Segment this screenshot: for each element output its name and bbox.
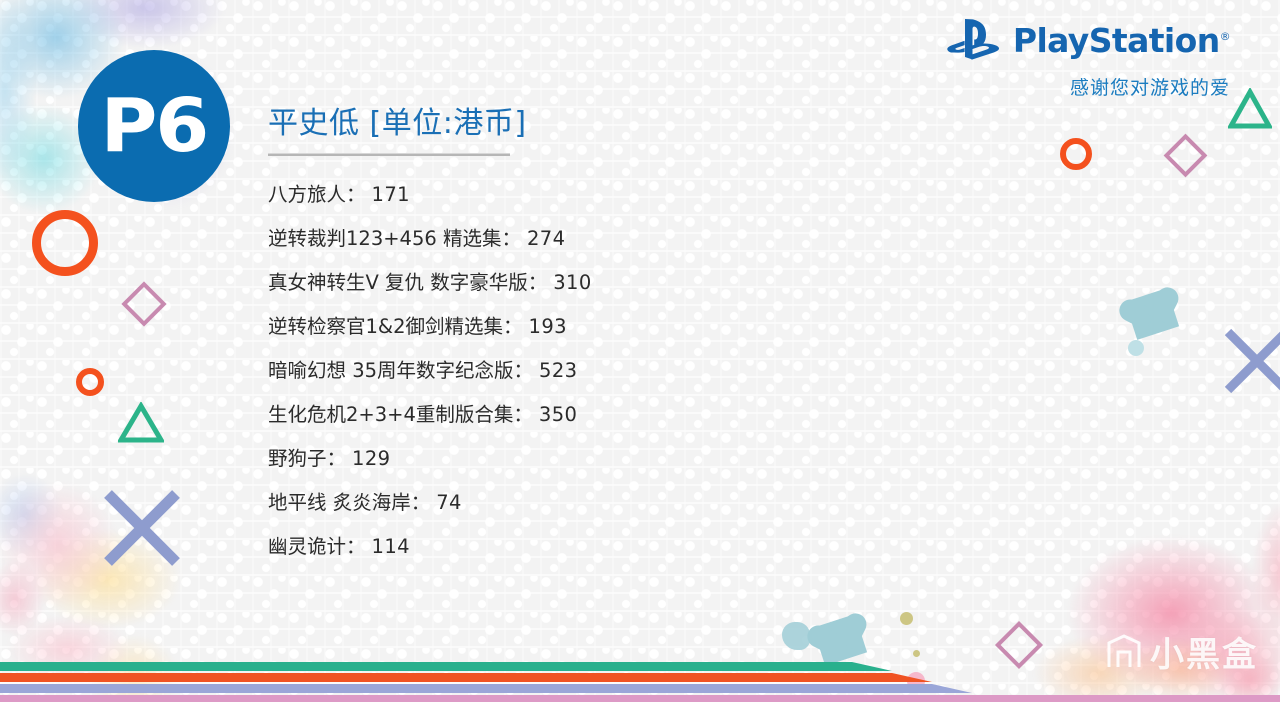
cross-icon (1218, 322, 1280, 400)
price-item-value: 193 (529, 315, 567, 338)
brand-tagline: 感谢您对游戏的爱 (945, 73, 1230, 100)
price-list-item: 生化危机2+3+4重制版合集：350 (268, 390, 888, 434)
title-divider (268, 153, 510, 156)
price-item-name: 地平线 炙炎海岸： (268, 491, 430, 514)
circle-icon (32, 210, 98, 276)
dot-icon (1128, 340, 1144, 356)
playstation-brand-block: PlayStation® 感谢您对游戏的爱 (945, 16, 1230, 100)
stripe-periwinkle (0, 684, 972, 693)
price-item-name: 野狗子： (268, 447, 346, 470)
price-list-item: 幽灵诡计：114 (268, 522, 888, 566)
price-list-item: 暗喻幻想 35周年数字纪念版：523 (268, 346, 888, 390)
price-item-value: 129 (352, 447, 390, 470)
stripe-pink (0, 695, 1280, 702)
dot-icon (900, 612, 913, 625)
price-list-item: 地平线 炙炎海岸：74 (268, 478, 888, 522)
circle-icon (76, 368, 104, 396)
circle-icon (1060, 138, 1092, 170)
dot-icon (782, 622, 810, 650)
price-item-name: 八方旅人： (268, 183, 366, 206)
playstation-wordmark: PlayStation® (1013, 21, 1230, 60)
price-item-name: 暗喻幻想 35周年数字纪念版： (268, 359, 533, 382)
registered-trademark-icon: ® (1220, 30, 1230, 43)
price-list-item: 野狗子：129 (268, 434, 888, 478)
price-panel: 平史低 [单位:港币] 八方旅人：171逆转裁判123+456 精选集：274真… (268, 98, 888, 566)
stripe-group (0, 660, 1280, 702)
price-list: 八方旅人：171逆转裁判123+456 精选集：274真女神转生V 复仇 数字豪… (268, 170, 888, 566)
price-item-value: 171 (372, 183, 410, 206)
triangle-icon (1228, 88, 1272, 130)
price-item-value: 74 (436, 491, 462, 514)
price-list-item: 真女神转生V 复仇 数字豪华版：310 (268, 258, 888, 302)
price-item-value: 114 (372, 535, 410, 558)
price-list-item: 逆转检察官1&2御剑精选集：193 (268, 302, 888, 346)
cross-icon (96, 482, 188, 574)
stripe-orange (0, 673, 932, 682)
rank-badge: P6 (78, 50, 230, 202)
price-item-name: 幽灵诡计： (268, 535, 366, 558)
playstation-logo-icon (945, 16, 1001, 64)
bottom-stripe-bar (0, 660, 1280, 702)
price-item-name: 真女神转生V 复仇 数字豪华版： (268, 271, 547, 294)
rank-badge-label: P6 (101, 89, 208, 163)
page-title: 平史低 [单位:港币] (268, 98, 888, 142)
watermark-text: 小黑盒 (1150, 627, 1258, 676)
dot-icon (913, 650, 920, 657)
watermark-logo-icon (1105, 633, 1143, 671)
price-item-value: 310 (553, 271, 591, 294)
price-list-item: 八方旅人：171 (268, 170, 888, 214)
watermark: 小黑盒 (1105, 627, 1258, 676)
stripe-green (0, 662, 892, 671)
price-item-name: 逆转裁判123+456 精选集： (268, 227, 521, 250)
price-item-value: 350 (539, 403, 577, 426)
triangle-icon (118, 402, 164, 444)
playstation-wordmark-text: PlayStation (1013, 21, 1220, 60)
price-list-item: 逆转裁判123+456 精选集：274 (268, 214, 888, 258)
price-item-value: 523 (539, 359, 577, 382)
price-item-name: 生化危机2+3+4重制版合集： (268, 403, 533, 426)
price-item-value: 274 (527, 227, 565, 250)
price-item-name: 逆转检察官1&2御剑精选集： (268, 315, 523, 338)
